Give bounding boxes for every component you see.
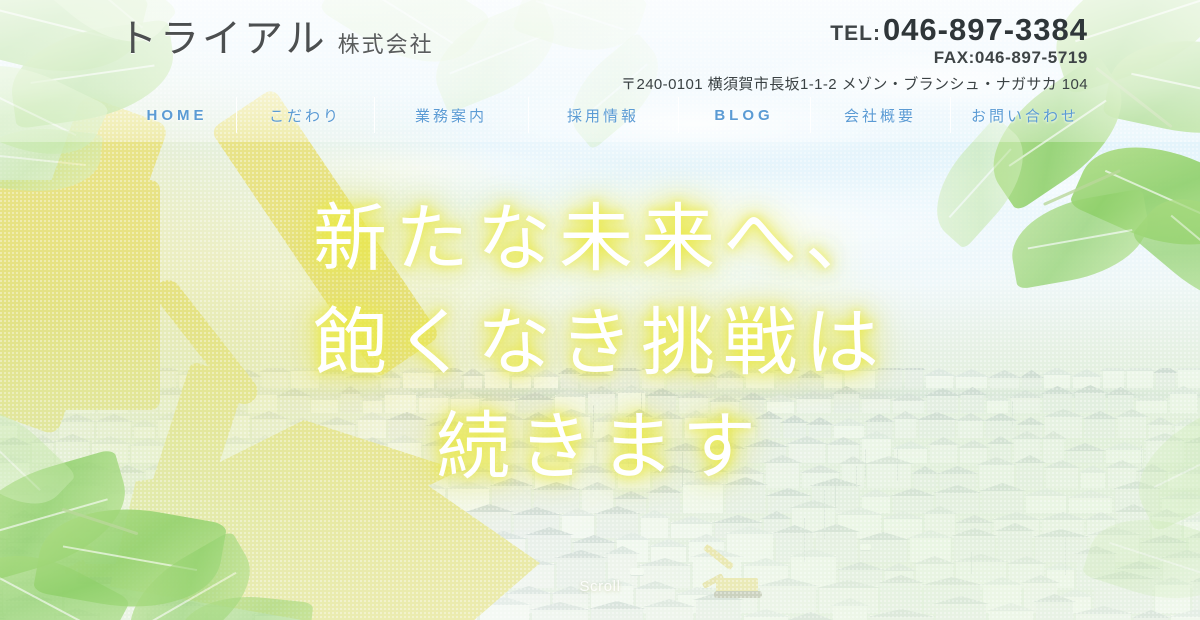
logo-main-text: トライアル [118, 20, 328, 59]
nav-item-2[interactable]: こだわり [236, 100, 374, 130]
site-logo[interactable]: トライアル 株式会社 [118, 20, 434, 59]
nav-item-label: お問い合わせ [971, 105, 1079, 126]
main-navigation: HOMEこだわり業務案内採用情報BLOG会社概要お問い合わせ [118, 100, 1100, 130]
nav-item-5[interactable]: BLOG [678, 100, 810, 130]
logo-sub-text: 株式会社 [338, 27, 434, 59]
nav-item-6[interactable]: 会社概要 [810, 100, 950, 130]
nav-item-1[interactable]: HOME [118, 100, 236, 130]
nav-item-label: こだわり [269, 105, 341, 126]
scroll-indicator[interactable]: Scroll [0, 578, 1200, 595]
nav-item-7[interactable]: お問い合わせ [950, 100, 1100, 130]
nav-item-label: HOME [147, 107, 208, 124]
site-header: トライアル 株式会社 TEL: 046-897-3384 FAX:046-897… [0, 0, 1200, 142]
nav-item-label: 業務案内 [415, 105, 487, 126]
telephone-line: TEL: 046-897-3384 [621, 14, 1088, 47]
nav-item-3[interactable]: 業務案内 [374, 100, 528, 130]
tel-number[interactable]: 046-897-3384 [883, 14, 1088, 47]
page-root: トライアル 株式会社 TEL: 046-897-3384 FAX:046-897… [0, 0, 1200, 620]
nav-item-label: 採用情報 [567, 105, 639, 126]
fax-number: FAX:046-897-5719 [621, 48, 1088, 68]
nav-item-4[interactable]: 採用情報 [528, 100, 678, 130]
contact-block: TEL: 046-897-3384 FAX:046-897-5719 〒240-… [621, 14, 1088, 94]
tel-label: TEL: [830, 22, 881, 46]
postal-address: 〒240-0101 横須賀市長坂1-1-2 メゾン・ブランシュ・ナガサカ 104 [621, 73, 1088, 94]
nav-item-label: BLOG [714, 107, 773, 124]
nav-item-label: 会社概要 [844, 105, 916, 126]
